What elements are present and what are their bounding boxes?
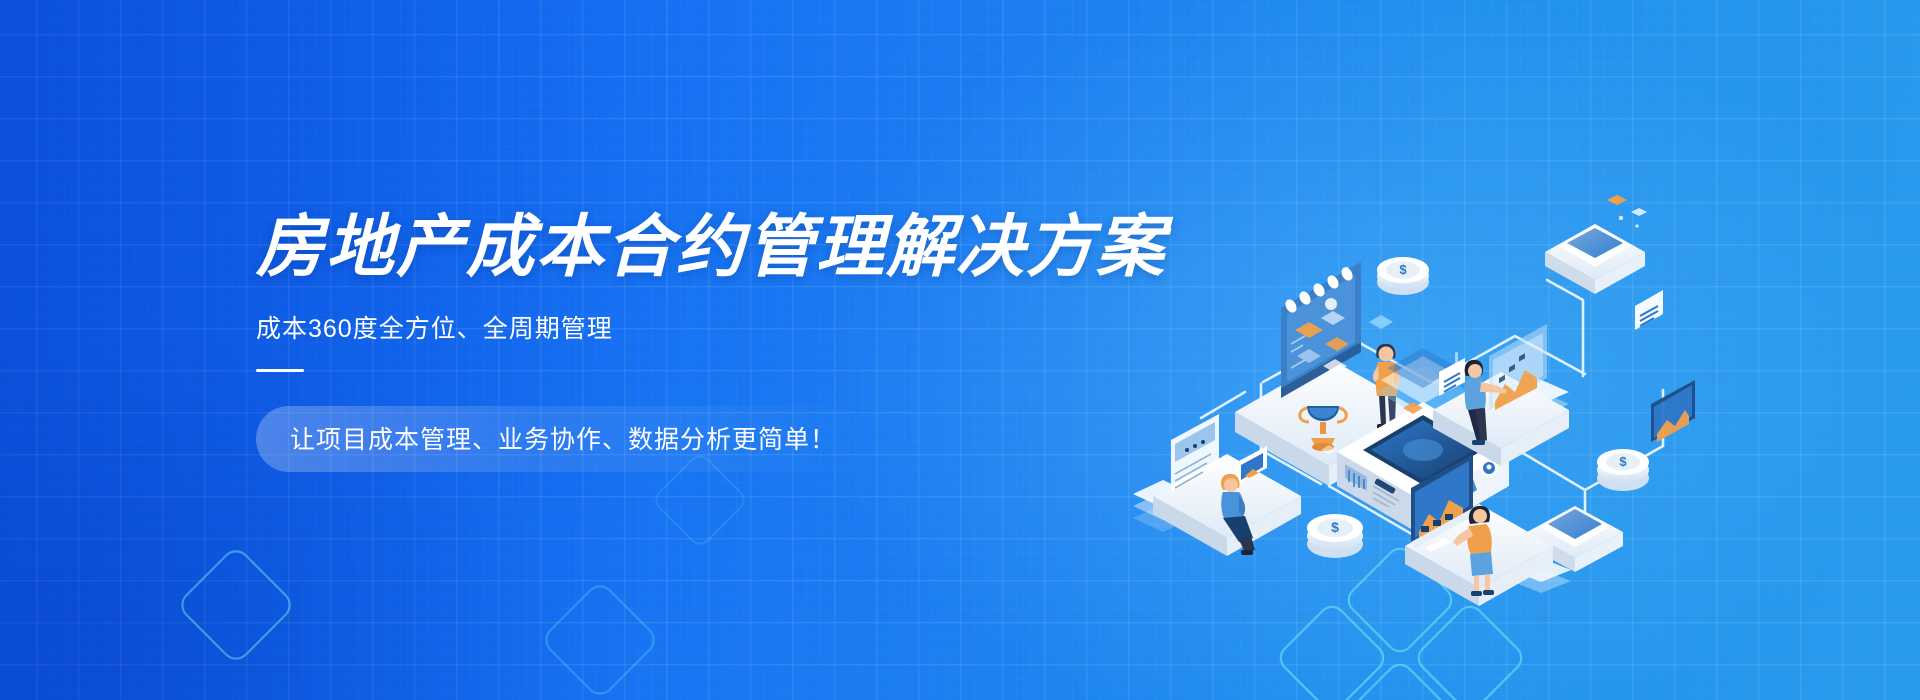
hero-illustration: $ $ $ [1115, 150, 1735, 580]
coin-stack-right: $ [1597, 449, 1649, 491]
side-card-upper [1635, 290, 1663, 330]
page-title: 房地产成本合约管理解决方案 [256, 212, 1216, 283]
tagline-pill: 让项目成本管理、业务协作、数据分析更简单！ [256, 406, 870, 472]
svg-text:$: $ [1399, 262, 1407, 277]
side-card-lower [1651, 380, 1695, 442]
hero-banner: 房地产成本合约管理解决方案 成本360度全方位、全周期管理 让项目成本管理、业务… [0, 0, 1920, 700]
copy-block: 房地产成本合约管理解决方案 成本360度全方位、全周期管理 让项目成本管理、业务… [256, 212, 1216, 472]
coin-stack-left: $ [1377, 257, 1429, 295]
title-divider [256, 369, 304, 372]
floating-pedestal-upper [1545, 195, 1647, 294]
svg-text:$: $ [1331, 519, 1339, 535]
isometric-scene: $ $ $ [1115, 150, 1735, 580]
page-subtitle: 成本360度全方位、全周期管理 [256, 309, 1216, 345]
svg-text:$: $ [1619, 454, 1627, 469]
coin-stack-center: $ [1307, 514, 1363, 558]
